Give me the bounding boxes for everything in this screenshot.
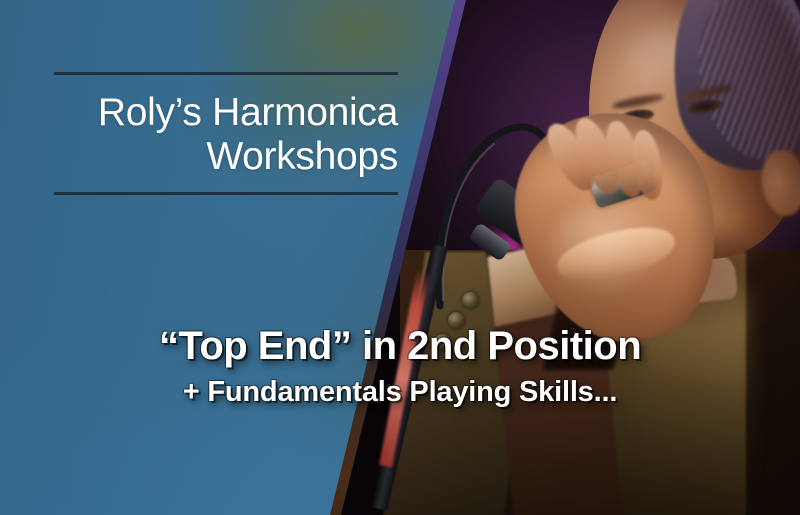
promo-banner: Roly’s Harmonica Workshops “Top End” in … [0,0,800,515]
palm-highlight [548,200,674,296]
brand-title: Roly’s Harmonica Workshops [54,91,398,178]
headline-block: “Top End” in 2nd Position + Fundamentals… [0,325,800,409]
title-rule-bottom [54,192,398,195]
brand-title-block: Roly’s Harmonica Workshops [54,72,398,195]
subheadline: + Fundamentals Playing Skills... [0,377,800,409]
title-rule-top [54,72,398,75]
headline: “Top End” in 2nd Position [0,325,800,367]
